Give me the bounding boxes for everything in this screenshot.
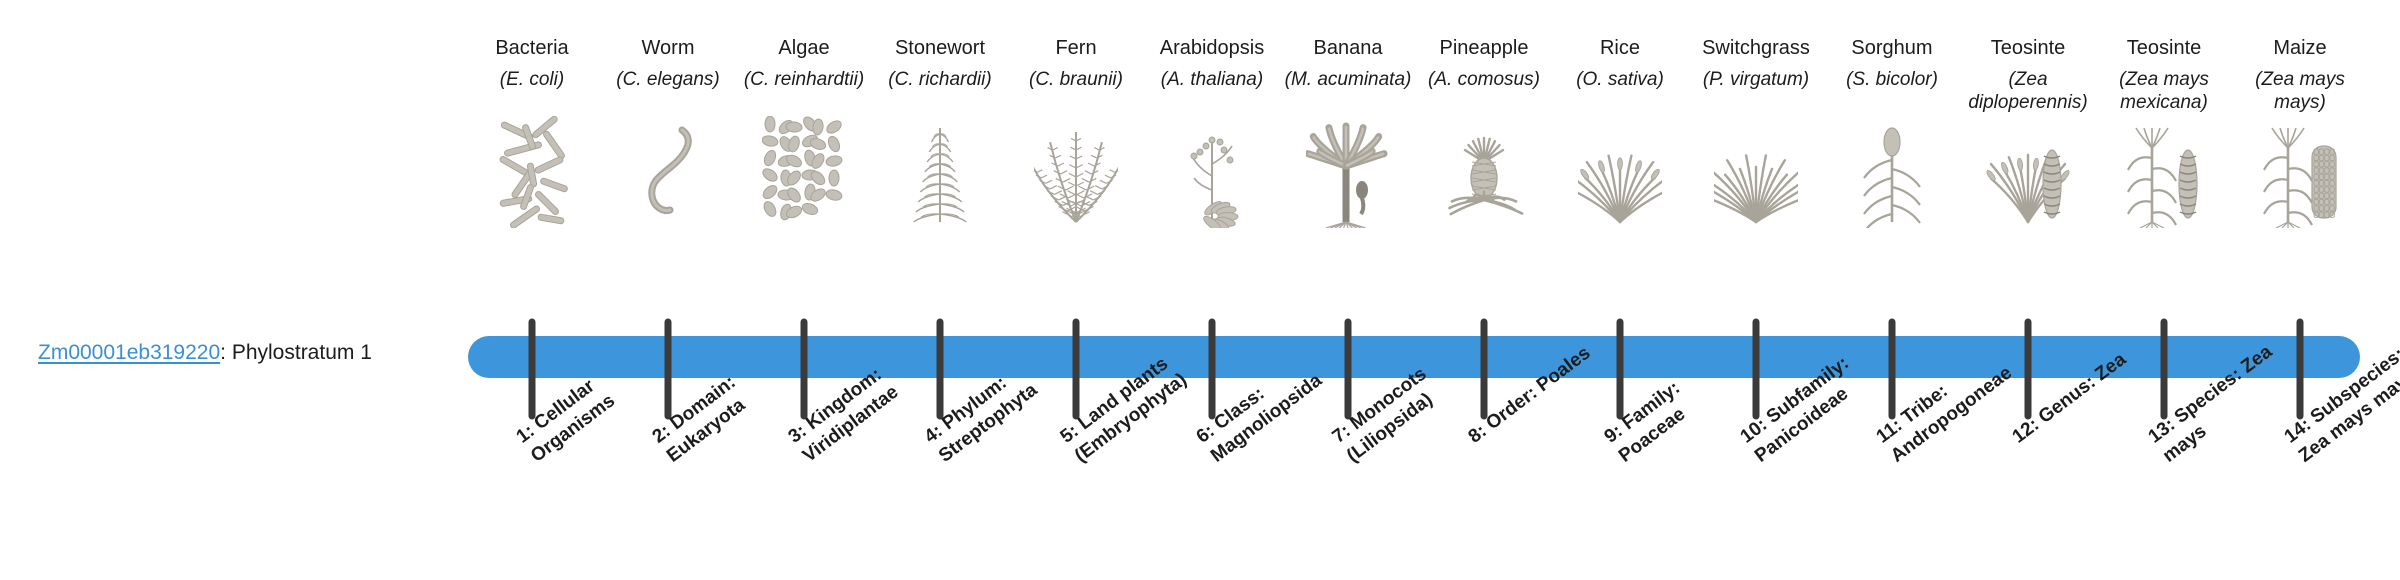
phylostratum-text: Subspecies: Zea mays mays — [2295, 344, 2400, 467]
phylostratum-text: Domain: Eukaryota — [663, 372, 749, 467]
phylostratum-text: Family: Poaceae — [1615, 377, 1689, 466]
phylostratum-label[interactable]: 10: Subfamily: Panicoideae — [1736, 340, 1885, 469]
phylostratum-text: Subfamily: Panicoideae — [1751, 353, 1853, 467]
phylostratum-label[interactable]: 1: Cellular Organisms — [512, 340, 661, 469]
phylostratum-text: Land plants (Embryophyta) — [1071, 353, 1191, 466]
phylostratum-label[interactable]: 11: Tribe: Andropogoneae — [1872, 340, 2021, 469]
phylostratum-text: Order: Poales — [1482, 342, 1594, 434]
phylostratum-label[interactable]: 8: Order: Poales — [1464, 340, 1598, 449]
phylostratum-text: Genus: Zea — [2035, 349, 2130, 428]
phylostratum-label[interactable]: 14: Subspecies: Zea mays mays — [2280, 340, 2400, 469]
phylostratum-number: 12: — [2009, 414, 2044, 447]
phylostratum-label[interactable]: 7: Monocots (Liliopsida) — [1328, 340, 1477, 469]
phylostratum-label[interactable]: 3: Kingdom: Viridiplantae — [784, 340, 933, 469]
phylostratum-label[interactable]: 13: Species: Zea mays — [2144, 340, 2293, 469]
phylostratum-text: Phylum: Streptophyta — [935, 372, 1041, 466]
phylostratum-text: Species: Zea mays — [2159, 341, 2276, 467]
phylostratum-text: Monocots (Liliopsida) — [1343, 363, 1437, 466]
phylostratum-text: Kingdom: Viridiplantae — [799, 364, 902, 467]
phylostratum-label[interactable]: 12: Genus: Zea — [2008, 340, 2142, 449]
phylostratum-label[interactable]: 9: Family: Poaceae — [1600, 340, 1749, 469]
phylostratum-label[interactable]: 5: Land plants (Embryophyta) — [1056, 340, 1205, 469]
phylostratigraphy-figure: Zm00001eb319220: Phylostratum 1 Bacteria… — [0, 0, 2400, 580]
phylostratum-text: Class: Magnoliopsida — [1207, 370, 1326, 467]
phylostratum-label-row: 1: Cellular Organisms2: Domain: Eukaryot… — [0, 0, 2400, 580]
phylostratum-label[interactable]: 6: Class: Magnoliopsida — [1192, 340, 1341, 469]
phylostratum-label[interactable]: 2: Domain: Eukaryota — [648, 340, 797, 469]
phylostratum-text: Tribe: Andropogoneae — [1887, 362, 2016, 466]
phylostratum-text: Cellular Organisms — [527, 375, 619, 466]
phylostratum-label[interactable]: 4: Phylum: Streptophyta — [920, 340, 1069, 469]
